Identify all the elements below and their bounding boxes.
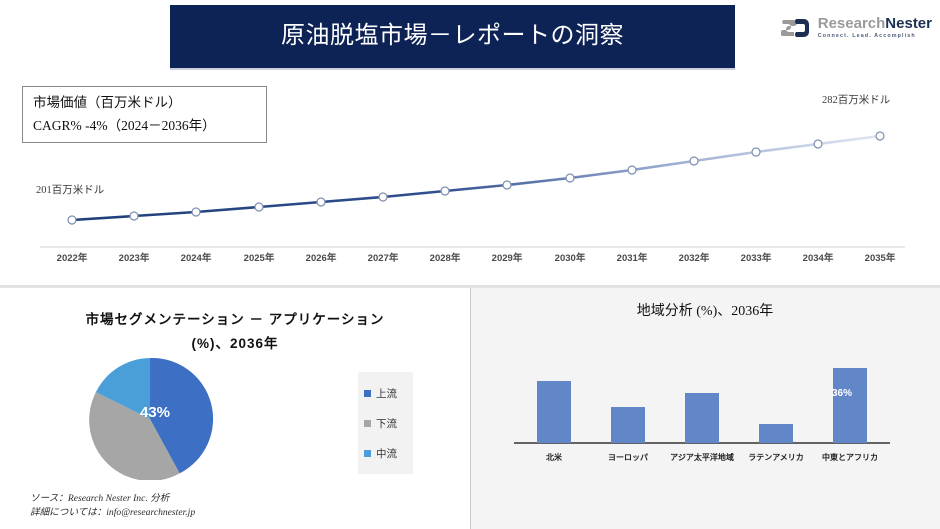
chain-link-logo-icon	[781, 16, 811, 40]
bar-label-middle-east-africa: 中東とアフリカ	[822, 452, 878, 463]
x-tick-2031: 2031年	[617, 250, 648, 264]
slide-root: 原油脱塩市場－レポートの洞察 ResearchNester Connect. L…	[0, 0, 940, 529]
logo-text: ResearchNester Connect. Lead. Accomplish	[818, 16, 932, 39]
pie-chart-legend: 上流 下流 中流	[358, 372, 413, 474]
end-value-annotation: 282百万米ドル	[822, 92, 890, 107]
bar-label-north-america: 北米	[546, 452, 562, 463]
x-tick-2034: 2034年	[803, 250, 834, 264]
line-series-markers	[68, 132, 884, 224]
bar-data-label-middle-east-africa: 36%	[832, 388, 852, 399]
pie-title-line1: 市場セグメンテーション － アプリケーション	[20, 308, 450, 332]
page-title: 原油脱塩市場－レポートの洞察	[170, 5, 735, 68]
x-tick-2023: 2023年	[119, 250, 150, 264]
x-tick-2032: 2032年	[679, 250, 710, 264]
bar-latin-america[interactable]	[759, 424, 793, 443]
logo-tagline: Connect. Lead. Accomplish	[818, 34, 932, 39]
legend-swatch-downstream	[364, 420, 371, 427]
bar-label-asia-pacific: アジア太平洋地域	[670, 452, 734, 463]
legend-item-midstream[interactable]: 中流	[364, 446, 413, 461]
x-tick-2025: 2025年	[244, 250, 275, 264]
x-tick-2030: 2030年	[555, 250, 586, 264]
x-tick-2026: 2026年	[306, 250, 337, 264]
pie-chart-title: 市場セグメンテーション － アプリケーション (%)、2036年	[20, 308, 450, 355]
x-tick-2029: 2029年	[492, 250, 523, 264]
header-band: 原油脱塩市場－レポートの洞察	[170, 5, 735, 68]
x-tick-2035: 2035年	[865, 250, 896, 264]
legend-swatch-midstream	[364, 450, 371, 457]
source-line-1: ソース：Research Nester Inc. 分析	[30, 492, 195, 506]
legend-label-upstream: 上流	[376, 386, 397, 401]
legend-item-downstream[interactable]: 下流	[364, 416, 413, 431]
x-tick-2027: 2027年	[368, 250, 399, 264]
x-tick-2024: 2024年	[181, 250, 212, 264]
bar-label-europe: ヨーロッパ	[608, 452, 648, 463]
brand-logo: ResearchNester Connect. Lead. Accomplish	[781, 16, 932, 40]
bar-middle-east-africa[interactable]	[833, 368, 867, 443]
legend-label-midstream: 中流	[376, 446, 397, 461]
logo-word-nester: Nester	[885, 15, 932, 32]
bar-chart-title: 地域分析 (%)、2036年	[470, 300, 940, 320]
source-line-2: 詳細については：info@researchnester.jp	[30, 506, 195, 520]
x-tick-2033: 2033年	[741, 250, 772, 264]
pie-title-line2: (%)、2036年	[20, 332, 450, 356]
bar-europe[interactable]	[611, 407, 645, 443]
logo-name: ResearchNester	[818, 16, 932, 31]
source-note: ソース：Research Nester Inc. 分析 詳細については：info…	[30, 492, 195, 521]
line-chart-x-axis-labels: 2022年 2023年 2024年 2025年 2026年 2027年 2028…	[0, 250, 940, 272]
bar-chart-x-axis-labels: 北米 ヨーロッパ アジア太平洋地域 ラテンアメリカ 中東とアフリカ	[470, 452, 940, 472]
start-value-annotation: 201百万米ドル	[36, 182, 104, 197]
bar-asia-pacific[interactable]	[685, 393, 719, 443]
legend-label-downstream: 下流	[376, 416, 397, 431]
x-tick-2028: 2028年	[430, 250, 461, 264]
legend-swatch-upstream	[364, 390, 371, 397]
logo-word-research: Research	[818, 15, 886, 32]
x-tick-2022: 2022年	[57, 250, 88, 264]
bar-label-latin-america: ラテンアメリカ	[748, 452, 804, 463]
pie-data-label-upstream: 43%	[140, 404, 170, 421]
bar-north-america[interactable]	[537, 381, 571, 443]
legend-item-upstream[interactable]: 上流	[364, 386, 413, 401]
